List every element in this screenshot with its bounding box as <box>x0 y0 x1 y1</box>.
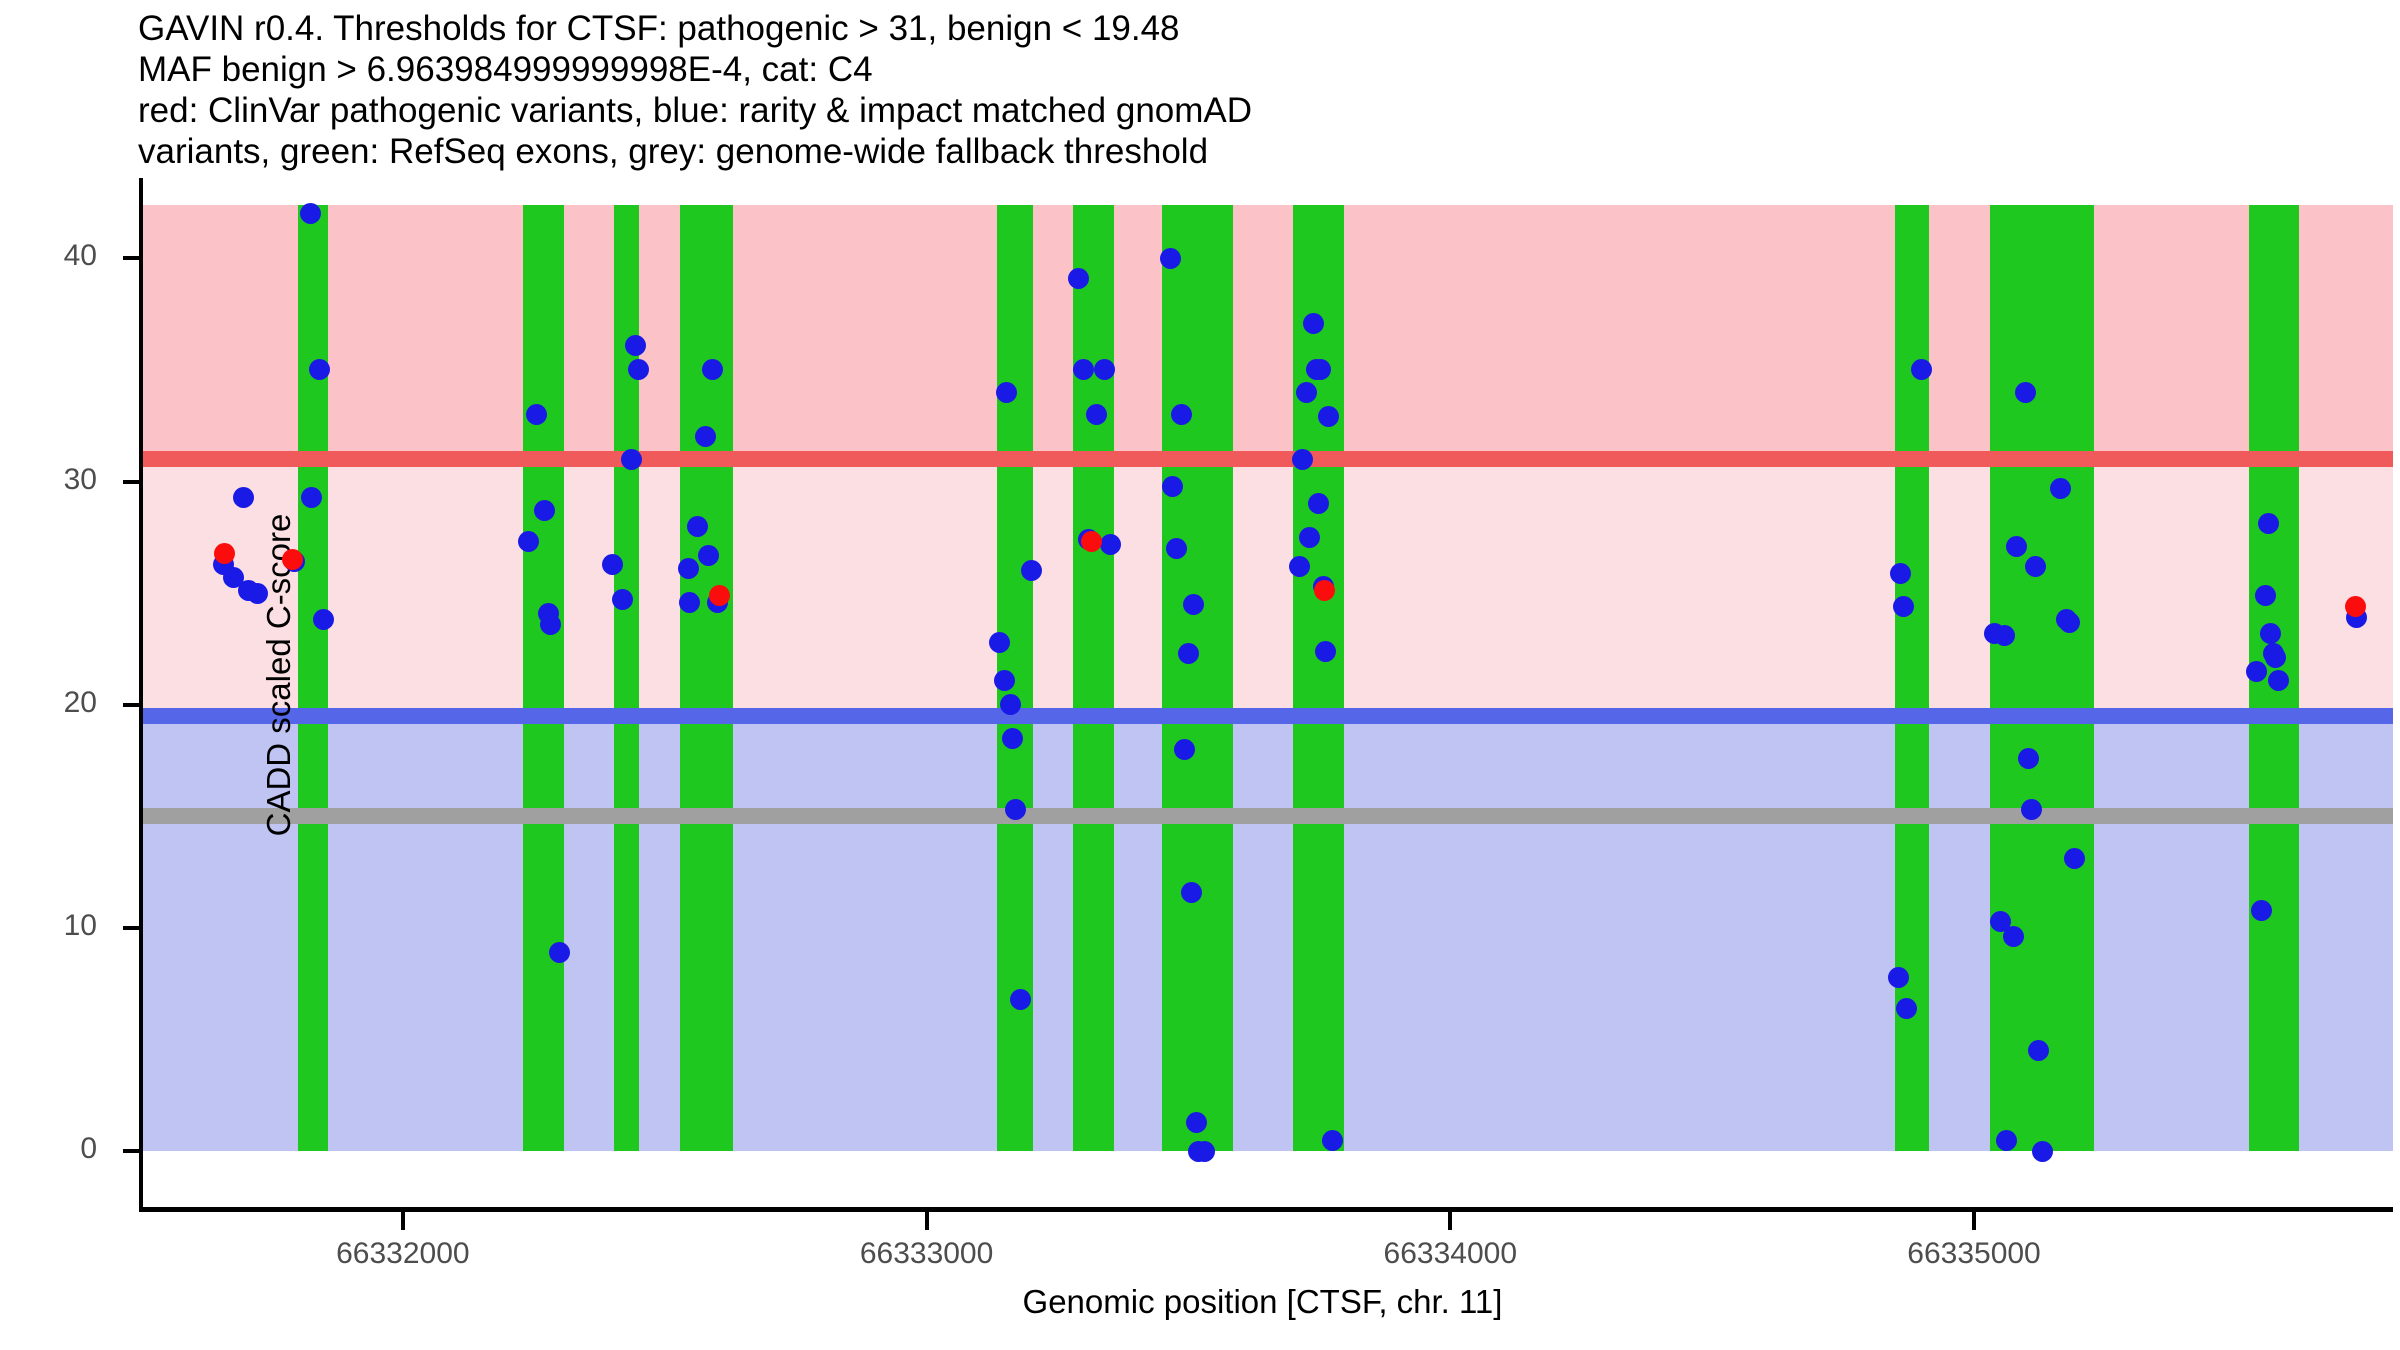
pathogenic-threshold-line <box>141 451 2393 467</box>
gnomad-variant-point <box>2050 478 2071 499</box>
gnomad-variant-point <box>526 404 547 425</box>
exon-band <box>680 205 732 1151</box>
gnomad-variant-point <box>1296 382 1317 403</box>
gnomad-variant-point <box>1160 248 1181 269</box>
exon-band <box>1990 205 2095 1151</box>
gnomad-variant-point <box>2251 900 2272 921</box>
gnomad-variant-point <box>1171 404 1192 425</box>
exon-band <box>1293 205 1344 1151</box>
gnomad-variant-point <box>1162 476 1183 497</box>
title-line-3: red: ClinVar pathogenic variants, blue: … <box>138 90 2238 131</box>
gnomad-variant-point <box>2255 585 2276 606</box>
gnomad-variant-point <box>994 670 1015 691</box>
exon-band <box>1073 205 1114 1151</box>
x-axis-left-stub <box>139 1178 143 1211</box>
plot-panel <box>141 178 2393 1178</box>
x-axis-line <box>139 1207 2393 1212</box>
gnomad-variant-point <box>2246 661 2267 682</box>
y-axis-tick-label: 30 <box>0 463 97 497</box>
gnomad-variant-point <box>678 558 699 579</box>
gnomad-variant-point <box>1890 563 1911 584</box>
gnomad-variant-point <box>309 359 330 380</box>
y-axis-tick <box>123 480 141 484</box>
gnomad-variant-point <box>301 487 322 508</box>
gnomad-variant-point <box>1002 728 1023 749</box>
x-axis-tick <box>1448 1212 1452 1230</box>
gavin-cadd-scatter-figure: GAVIN r0.4. Thresholds for CTSF: pathoge… <box>0 0 2400 1350</box>
x-axis-title: Genomic position [CTSF, chr. 11] <box>140 1283 2385 1321</box>
gnomad-variant-point <box>1315 641 1336 662</box>
gnomad-variant-point <box>1183 594 1204 615</box>
gnomad-variant-point <box>996 382 1017 403</box>
x-axis-tick <box>925 1212 929 1230</box>
gnomad-variant-point <box>1303 313 1324 334</box>
y-axis-tick-label: 10 <box>0 909 97 943</box>
gnomad-variant-point <box>2059 612 2080 633</box>
x-axis-tick <box>401 1212 405 1230</box>
y-axis-tick <box>123 926 141 930</box>
gnomad-variant-point <box>621 449 642 470</box>
y-axis-tick-label: 20 <box>0 686 97 720</box>
clinvar-pathogenic-point <box>709 585 730 606</box>
gnomad-variant-point <box>698 545 719 566</box>
gnomad-variant-point <box>1186 1112 1207 1133</box>
gnomad-variant-point <box>1174 739 1195 760</box>
gnomad-variant-point <box>1996 1130 2017 1151</box>
benign-threshold-line <box>141 708 2393 724</box>
gnomad-variant-point <box>687 516 708 537</box>
gnomad-variant-point <box>2260 623 2281 644</box>
y-axis-tick <box>123 1149 141 1153</box>
gnomad-variant-point <box>534 500 555 521</box>
gnomad-variant-point <box>233 487 254 508</box>
title-line-1: GAVIN r0.4. Thresholds for CTSF: pathoge… <box>138 8 2238 49</box>
figure-title: GAVIN r0.4. Thresholds for CTSF: pathoge… <box>138 8 2238 172</box>
gnomad-variant-point <box>1181 882 1202 903</box>
exon-band <box>523 205 564 1151</box>
gnomad-variant-point <box>679 592 700 613</box>
y-axis-tick-label: 40 <box>0 239 97 273</box>
x-axis-tick-label: 66334000 <box>1310 1237 1590 1271</box>
gnomad-variant-point <box>540 614 561 635</box>
gnomad-variant-point <box>247 583 268 604</box>
y-axis-tick <box>123 256 141 260</box>
y-axis-line <box>139 178 143 1178</box>
x-axis-tick-label: 66332000 <box>263 1237 543 1271</box>
gnomad-variant-point <box>1994 625 2015 646</box>
gnomad-variant-point <box>300 203 321 224</box>
gnomad-variant-point <box>2268 670 2289 691</box>
title-line-2: MAF benign > 6.963984999999998E-4, cat: … <box>138 49 2238 90</box>
clinvar-pathogenic-point <box>2345 596 2366 617</box>
gnomad-variant-point <box>2018 748 2039 769</box>
x-axis-tick-label: 66335000 <box>1834 1237 2114 1271</box>
exon-band <box>1162 205 1233 1151</box>
y-axis-tick-label: 0 <box>0 1132 97 1166</box>
gnomad-variant-point <box>1100 534 1121 555</box>
gnomad-variant-point <box>2032 1141 2053 1162</box>
gnomad-variant-point <box>1068 268 1089 289</box>
gnomad-variant-point <box>602 554 623 575</box>
clinvar-pathogenic-point <box>214 543 235 564</box>
y-axis-tick <box>123 703 141 707</box>
gnomad-variant-point <box>1888 967 1909 988</box>
x-axis-tick <box>1972 1212 1976 1230</box>
title-line-4: variants, green: RefSeq exons, grey: gen… <box>138 131 2238 172</box>
gnomad-variant-point <box>1194 1141 1215 1162</box>
gnomad-variant-point <box>2015 382 2036 403</box>
gnomad-variant-point <box>1178 643 1199 664</box>
fallback-threshold-line <box>141 808 2393 824</box>
gnomad-variant-point <box>1292 449 1313 470</box>
x-axis-tick-label: 66333000 <box>787 1237 1067 1271</box>
gnomad-variant-point <box>1289 556 1310 577</box>
gnomad-variant-point <box>1322 1130 1343 1151</box>
